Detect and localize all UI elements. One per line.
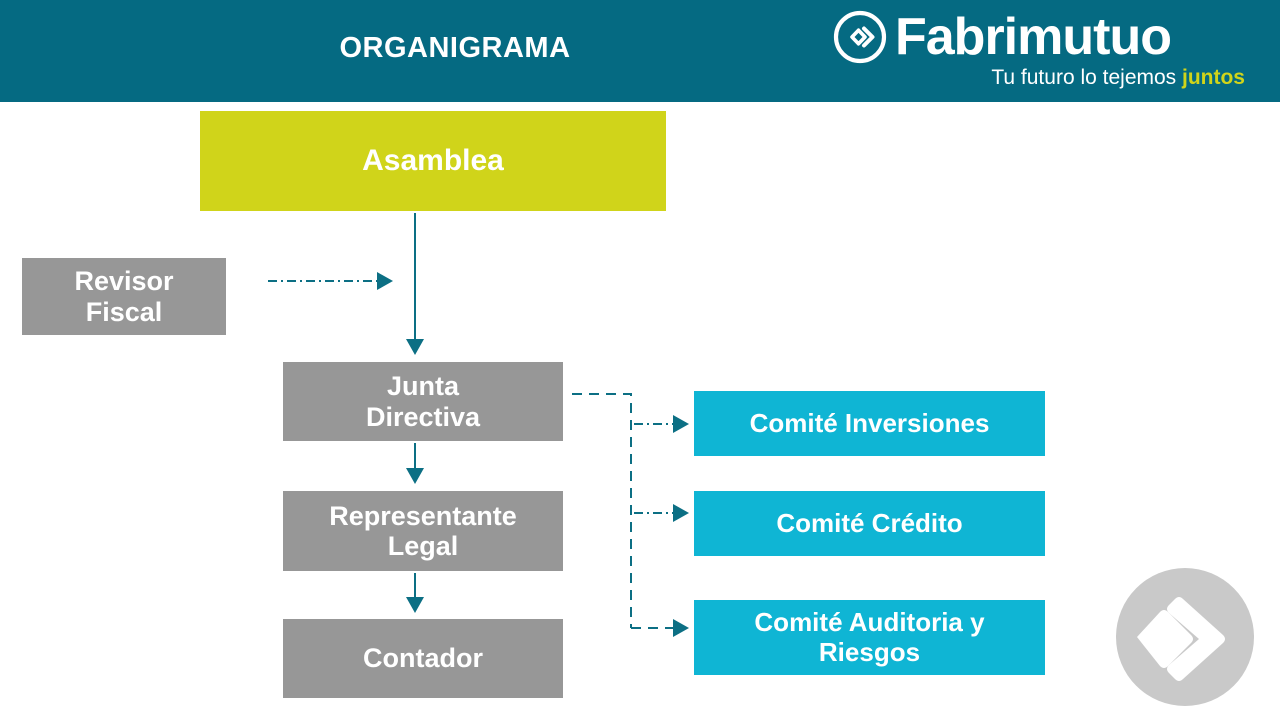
organigrama-slide: ORGANIGRAMA Fabrimutuo Tu futuro lo teje… (0, 0, 1280, 720)
node-revisor-fiscal[interactable]: RevisorFiscal (22, 258, 226, 335)
node-junta-directiva-label-line2: Directiva (366, 402, 480, 432)
node-comite-credito[interactable]: Comité Crédito (694, 491, 1045, 556)
node-contador-label: Contador (363, 643, 483, 673)
logo-tagline-prefix: Tu futuro lo tejemos (991, 66, 1182, 89)
node-representante-legal-label: RepresentanteLegal (329, 501, 517, 561)
node-revisor-fiscal-label-line1: Revisor (74, 266, 173, 296)
logo-tagline: Tu futuro lo tejemos juntos (895, 66, 1245, 90)
node-comite-auditoria-riesgos-label: Comité Auditoria yRiesgos (754, 608, 984, 666)
node-comite-inversiones[interactable]: Comité Inversiones (694, 391, 1045, 456)
logo-wordmark: Fabrimutuo (895, 8, 1171, 66)
brand-logo: Fabrimutuo Tu futuro lo tejemos juntos (833, 8, 1253, 96)
node-asamblea-label: Asamblea (362, 144, 504, 178)
node-revisor-fiscal-label-line2: Fiscal (86, 297, 163, 327)
node-representante-legal-label-line1: Representante (329, 501, 517, 531)
node-contador[interactable]: Contador (283, 619, 563, 698)
fabrimutuo-diamond-chevron-icon (833, 10, 887, 64)
node-comite-auditoria-riesgos-label-line1: Comité Auditoria y (754, 607, 984, 637)
page-title: ORGANIGRAMA (180, 32, 730, 65)
node-junta-directiva-label: JuntaDirectiva (366, 371, 480, 431)
node-comite-credito-label: Comité Crédito (776, 509, 962, 538)
edge-junta-committee-bus (572, 394, 631, 628)
node-junta-directiva[interactable]: JuntaDirectiva (283, 362, 563, 441)
fabrimutuo-watermark-icon (1113, 565, 1257, 709)
node-revisor-fiscal-label: RevisorFiscal (74, 266, 173, 326)
connector-layer (0, 0, 1280, 720)
node-representante-legal-label-line2: Legal (388, 531, 459, 561)
node-representante-legal[interactable]: RepresentanteLegal (283, 491, 563, 571)
node-junta-directiva-label-line1: Junta (387, 371, 459, 401)
node-comite-auditoria-riesgos-label-line2: Riesgos (819, 637, 920, 667)
node-comite-auditoria-riesgos[interactable]: Comité Auditoria yRiesgos (694, 600, 1045, 675)
logo-tagline-accent: juntos (1182, 66, 1245, 89)
node-comite-inversiones-label: Comité Inversiones (750, 409, 990, 438)
node-asamblea[interactable]: Asamblea (200, 111, 666, 211)
